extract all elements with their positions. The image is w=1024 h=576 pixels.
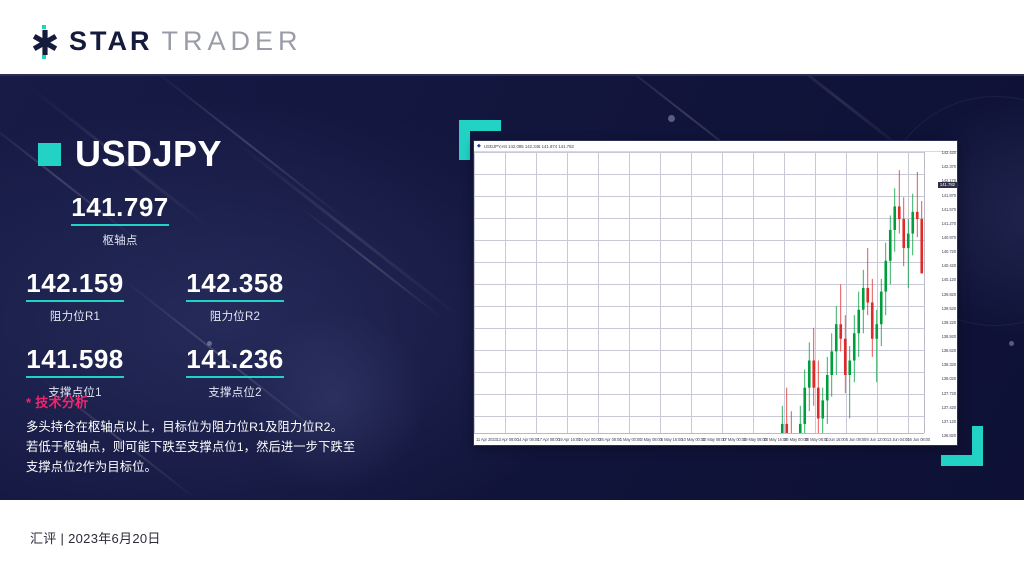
time-tick: 14 Apr 08:00 bbox=[517, 437, 539, 442]
footer-caption: 汇评 | 2023年6月20日 bbox=[30, 528, 161, 547]
level-r1-value: 142.159 bbox=[26, 270, 123, 302]
brand-logo: STAR TRADER bbox=[30, 26, 303, 57]
chart-title-bar: ◆ USDJPY,H4 142.085 142.346 141.874 141.… bbox=[474, 141, 957, 152]
analysis-line-1: 多头持仓在枢轴点以上，目标位为阻力位R1及阻力位R2。 bbox=[26, 418, 402, 438]
square-bullet-icon bbox=[38, 143, 61, 166]
six-point-star-icon bbox=[30, 27, 60, 57]
price-tick: 138.920 bbox=[942, 334, 956, 339]
analysis-heading: * 技术分析 bbox=[26, 392, 402, 411]
price-tick: 137.120 bbox=[942, 419, 956, 424]
price-tick: 138.620 bbox=[942, 348, 956, 353]
level-r2-value: 142.358 bbox=[186, 270, 283, 302]
time-tick: 13 Apr 08:00 bbox=[497, 437, 519, 442]
page-footer: 汇评 | 2023年6月20日 bbox=[0, 500, 1024, 576]
price-tick: 141.270 bbox=[942, 221, 956, 226]
star-glyph bbox=[32, 30, 58, 55]
price-tick: 138.320 bbox=[942, 362, 956, 367]
time-axis[interactable]: 11 Apr 202313 Apr 08:0014 Apr 08:0017 Ap… bbox=[474, 433, 924, 445]
chart-plot-area bbox=[474, 152, 924, 433]
time-tick: 26 Apr 08:00 bbox=[599, 437, 621, 442]
price-tick: 141.870 bbox=[942, 193, 956, 198]
price-chart[interactable]: ◆ USDJPY,H4 142.085 142.346 141.874 141.… bbox=[473, 140, 958, 446]
level-r1: 142.159 阻力位R1 bbox=[0, 270, 150, 324]
price-tick: 137.420 bbox=[942, 405, 956, 410]
logo-square-bottom bbox=[42, 55, 46, 59]
time-tick: 5 May 16:00 bbox=[661, 437, 682, 442]
price-tick: 137.720 bbox=[942, 391, 956, 396]
price-tick: 140.420 bbox=[942, 263, 956, 268]
price-tick: 139.220 bbox=[942, 320, 956, 325]
pivot-levels: 141.797 枢轴点 142.159 阻力位R1 142.358 阻力位R2 … bbox=[0, 194, 420, 400]
level-r2-label: 阻力位R2 bbox=[150, 308, 320, 324]
analysis-line-3: 支撑点位2作为目标位。 bbox=[26, 458, 402, 478]
instrument-title-row: USDJPY bbox=[38, 133, 222, 175]
level-r1-label: 阻力位R1 bbox=[0, 308, 150, 324]
technical-analysis: * 技术分析 多头持仓在枢轴点以上，目标位为阻力位R1及阻力位R2。 若低于枢轴… bbox=[26, 392, 402, 478]
time-tick: 24 Apr 00:00 bbox=[579, 437, 601, 442]
level-pivot-value: 141.797 bbox=[71, 194, 168, 226]
price-tick: 140.720 bbox=[942, 249, 956, 254]
price-tick: 136.820 bbox=[942, 433, 956, 438]
chart-title-text: USDJPY,H4 142.085 142.346 141.874 141.78… bbox=[484, 144, 574, 149]
price-tick: 141.570 bbox=[942, 207, 956, 212]
time-tick: 19 Apr 16:00 bbox=[558, 437, 580, 442]
corner-bracket-bottom-right bbox=[972, 426, 983, 466]
levels-row-pivot: 141.797 枢轴点 bbox=[0, 194, 420, 248]
logo-text-trader: TRADER bbox=[162, 26, 303, 57]
price-tick: 139.520 bbox=[942, 306, 956, 311]
current-price-label: 141.782 bbox=[938, 182, 957, 188]
level-s1-value: 141.598 bbox=[26, 346, 123, 378]
time-tick: 11 Apr 2023 bbox=[476, 437, 497, 442]
time-tick: 17 Apr 08:00 bbox=[538, 437, 560, 442]
time-tick: 1 Jun 16:00 bbox=[825, 437, 845, 442]
price-axis[interactable]: 142.420142.370142.170141.870141.570141.2… bbox=[924, 152, 957, 433]
page-header: STAR TRADER bbox=[0, 0, 1024, 76]
time-tick: 3 May 08:00 bbox=[640, 437, 661, 442]
level-r2: 142.358 阻力位R2 bbox=[150, 270, 320, 324]
analysis-line-2: 若低于枢轴点，则可能下跌至支撑点位1，然后进一步下跌至 bbox=[26, 438, 402, 458]
time-tick: 5 Jun 08:00 bbox=[846, 437, 866, 442]
time-tick: 16 Jun 08:00 bbox=[908, 437, 930, 442]
price-tick: 142.370 bbox=[942, 164, 956, 169]
candlestick-series bbox=[474, 152, 924, 433]
corner-bracket-top-left bbox=[459, 120, 470, 160]
time-tick: 13 Jun 04:00 bbox=[887, 437, 909, 442]
decor-dot bbox=[668, 115, 675, 122]
price-tick: 138.020 bbox=[942, 376, 956, 381]
price-tick: 140.120 bbox=[942, 277, 956, 282]
chart-symbol-icon: ◆ bbox=[477, 143, 481, 149]
page-title: USDJPY bbox=[75, 133, 222, 175]
level-s2-value: 141.236 bbox=[186, 346, 283, 378]
logo-text-star: STAR bbox=[69, 26, 153, 57]
price-tick: 140.970 bbox=[942, 235, 956, 240]
time-tick: 9 Jun 12:00 bbox=[866, 437, 886, 442]
logo-square-top bbox=[42, 25, 46, 29]
time-tick: 1 May 00:00 bbox=[620, 437, 641, 442]
levels-row-resistance: 142.159 阻力位R1 142.358 阻力位R2 bbox=[0, 270, 420, 324]
level-pivot-label: 枢轴点 bbox=[0, 232, 240, 248]
price-tick: 142.420 bbox=[942, 150, 956, 155]
price-tick: 139.820 bbox=[942, 292, 956, 297]
level-pivot: 141.797 枢轴点 bbox=[0, 194, 240, 248]
